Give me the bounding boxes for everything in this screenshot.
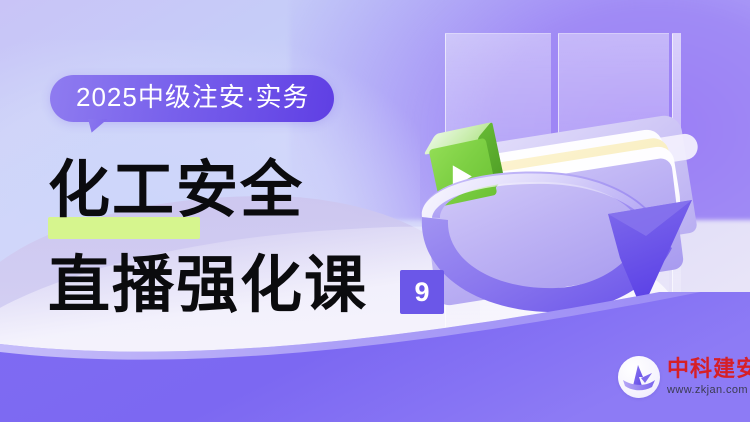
brand-website-url: www.zkjan.com [667, 385, 750, 396]
course-category-badge: 2025中级注安·实务 [50, 75, 334, 122]
mountain-person-logo-icon [618, 356, 660, 398]
page-title-line-1: 化工安全 [48, 160, 304, 222]
episode-number-badge: 9 [400, 270, 444, 314]
page-title-line-2: 直播强化课 [48, 255, 368, 317]
brand-logo: 中科建安 www.zkjan.com [618, 356, 750, 398]
brand-logo-text: 中科建安 www.zkjan.com [667, 358, 750, 396]
brand-name-cn: 中科建安 [667, 358, 750, 380]
course-promo-banner: 2025中级注安·实务 化工安全 直播强化课 9 [0, 0, 750, 422]
